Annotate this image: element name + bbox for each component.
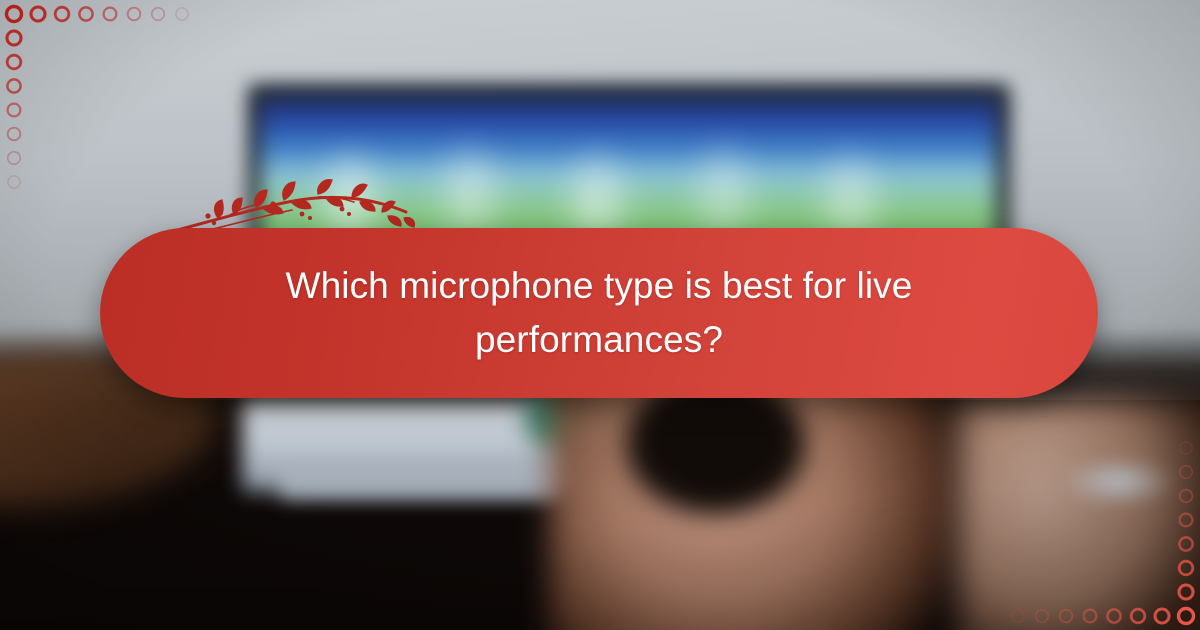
decorative-dot-grid-top-left bbox=[0, 0, 220, 210]
question-banner: Which microphone type is best for live p… bbox=[100, 228, 1098, 398]
question-title: Which microphone type is best for live p… bbox=[274, 259, 924, 366]
share-card: Which microphone type is best for live p… bbox=[0, 0, 1200, 630]
decorative-dot-grid-bottom-right bbox=[980, 420, 1200, 630]
